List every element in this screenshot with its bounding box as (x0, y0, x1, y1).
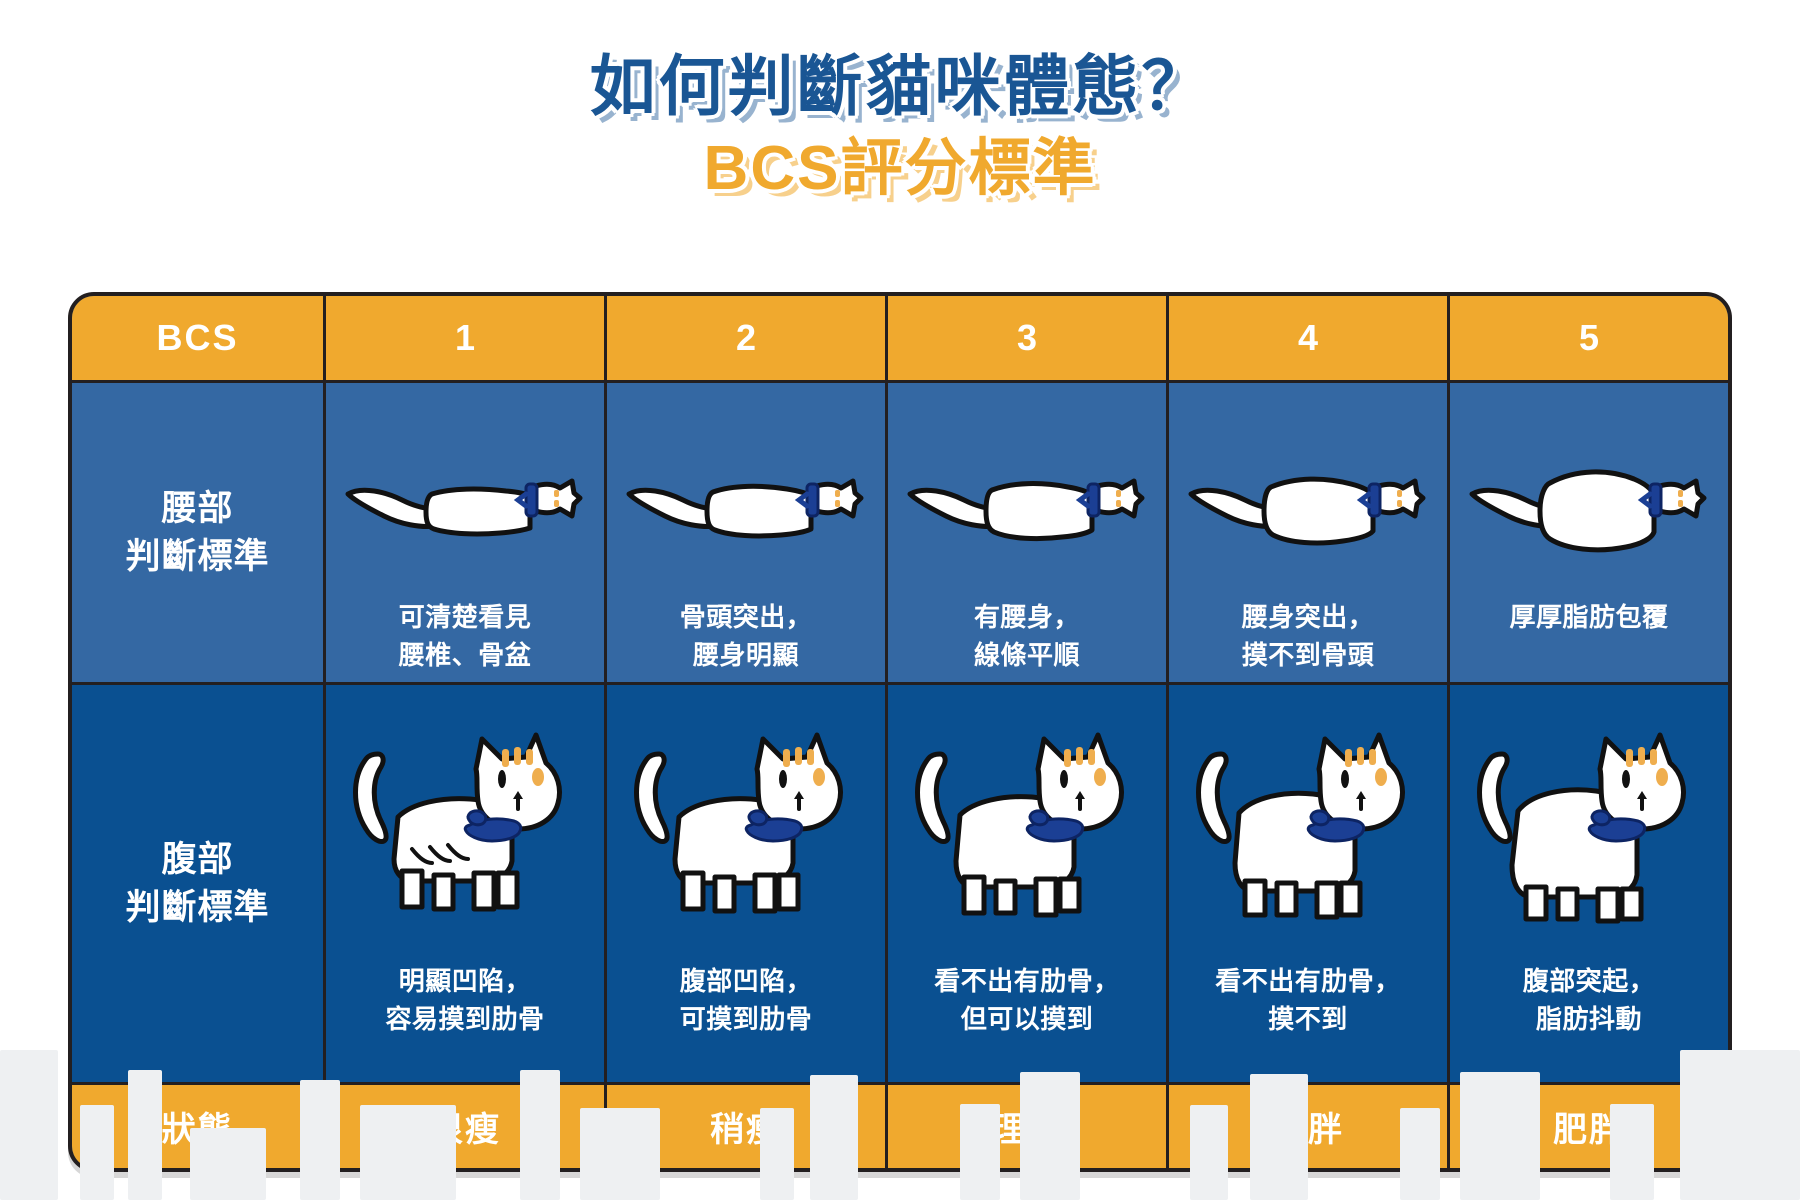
row-label-waist: 腰部 判斷標準 (72, 383, 326, 682)
cell-waist-2-line1: 骨頭突出， (680, 599, 813, 637)
header-label-bcs: BCS (156, 317, 238, 359)
row-label-belly: 腹部 判斷標準 (72, 685, 326, 1082)
cell-belly-1-line2: 容易摸到肋骨 (385, 1001, 544, 1039)
cell-waist-4-line2: 摸不到骨頭 (1242, 637, 1375, 675)
cell-belly-3: 看不出有肋骨， 但可以摸到 (888, 685, 1169, 1082)
header-cell-4: 4 (1169, 296, 1450, 380)
cell-belly-5-line1: 腹部突起， (1523, 963, 1656, 1001)
cell-waist-4-line1: 腰身突出， (1242, 599, 1375, 637)
cell-waist-5: 厚厚脂肪包覆 (1450, 383, 1728, 682)
cell-belly-4-line2: 摸不到 (1215, 1001, 1401, 1039)
cell-belly-1-line1: 明顯凹陷， (385, 963, 544, 1001)
page-subtitle: BCS評分標準 (0, 132, 1800, 206)
cell-waist-3: 有腰身， 線條平順 (888, 383, 1169, 682)
header-score-3: 3 (1017, 317, 1037, 359)
header-cell-5: 5 (1450, 296, 1728, 380)
cell-waist-3-line2: 線條平順 (974, 637, 1080, 675)
row-label-waist-line1: 腰部 (161, 485, 233, 532)
cat-sideview-icon (350, 711, 580, 941)
cell-waist-1-line1: 可清楚看見 (399, 599, 532, 637)
cell-belly-2-line1: 腹部凹陷， (680, 963, 813, 1001)
cell-waist-2: 骨頭突出， 腰身明顯 (607, 383, 888, 682)
cat-topdown-icon (902, 425, 1152, 585)
row-waist-criteria: 腰部 判斷標準 (72, 380, 1728, 682)
footer-decoration (0, 1040, 1800, 1200)
cell-belly-5: 腹部突起， 脂肪抖動 (1450, 685, 1728, 1082)
infographic-page: 如何判斷貓咪體態？ BCS評分標準 BCS 1 2 3 4 5 (0, 0, 1800, 1200)
cell-waist-4: 腰身突出， 摸不到骨頭 (1169, 383, 1450, 682)
cat-topdown-icon (340, 425, 590, 585)
cell-belly-4: 看不出有肋骨， 摸不到 (1169, 685, 1450, 1082)
cat-sideview-icon (631, 711, 861, 941)
cell-waist-1: 可清楚看見 腰椎、骨盆 (326, 383, 607, 682)
cell-belly-4-line1: 看不出有肋骨， (1215, 963, 1401, 1001)
header-score-1: 1 (455, 317, 475, 359)
cell-belly-3-line2: 但可以摸到 (934, 1001, 1120, 1039)
cell-waist-2-line2: 腰身明顯 (680, 637, 813, 675)
table-header-row: BCS 1 2 3 4 5 (72, 296, 1728, 380)
page-title: 如何判斷貓咪體態？ (0, 48, 1800, 126)
row-label-waist-line2: 判斷標準 (125, 533, 269, 580)
cell-waist-5-line1: 厚厚脂肪包覆 (1509, 599, 1668, 637)
header-cell-bcs: BCS (72, 296, 326, 380)
cat-topdown-icon (621, 425, 871, 585)
row-label-belly-line2: 判斷標準 (125, 884, 269, 931)
header-cell-2: 2 (607, 296, 888, 380)
cell-belly-5-line2: 脂肪抖動 (1523, 1001, 1656, 1039)
row-label-belly-line1: 腹部 (161, 836, 233, 883)
cat-topdown-icon (1183, 425, 1433, 585)
row-belly-criteria: 腹部 判斷標準 (72, 682, 1728, 1082)
cell-waist-1-line2: 腰椎、骨盆 (399, 637, 532, 675)
cat-topdown-icon (1464, 425, 1714, 585)
cell-waist-3-line1: 有腰身， (974, 599, 1080, 637)
cat-sideview-icon (912, 711, 1142, 941)
cell-belly-3-line1: 看不出有肋骨， (934, 963, 1120, 1001)
header-cell-1: 1 (326, 296, 607, 380)
header-score-2: 2 (736, 317, 756, 359)
cat-sideview-icon (1474, 711, 1704, 941)
cell-belly-1: 明顯凹陷， 容易摸到肋骨 (326, 685, 607, 1082)
cell-belly-2: 腹部凹陷， 可摸到肋骨 (607, 685, 888, 1082)
title-block: 如何判斷貓咪體態？ BCS評分標準 (0, 48, 1800, 206)
cell-belly-2-line2: 可摸到肋骨 (680, 1001, 813, 1039)
cat-sideview-icon (1193, 711, 1423, 941)
header-cell-3: 3 (888, 296, 1169, 380)
header-score-5: 5 (1579, 317, 1599, 359)
header-score-4: 4 (1298, 317, 1318, 359)
